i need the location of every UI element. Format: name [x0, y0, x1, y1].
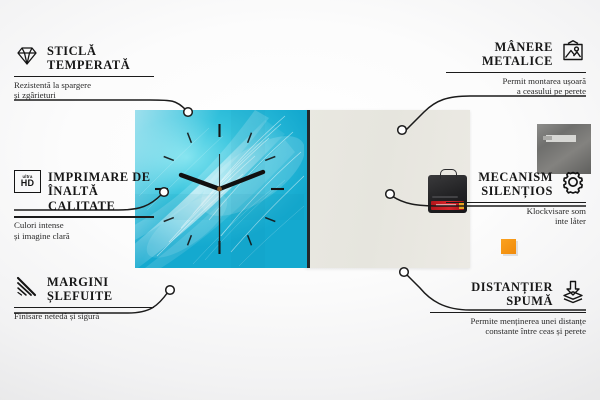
feature-title: MARGINI ȘLEFUITE — [47, 275, 113, 304]
feature-rule — [446, 202, 586, 203]
callout-dot-silent-mechanism — [386, 190, 395, 199]
feature-rule — [430, 312, 586, 313]
infographic-canvas: STICLĂ TEMPERATĂ Rezistentă la spargere … — [0, 0, 600, 400]
feature-foam-spacer: DISTANȚIER SPUMĂ Permite menținerea unei… — [430, 280, 586, 337]
feature-subtitle: Finisare netedă și sigură — [14, 311, 154, 322]
down-arrow-on-pad-icon — [560, 280, 586, 304]
ultra-hd-badge-icon: ultra HD — [14, 170, 41, 193]
diagonal-lines-icon — [14, 275, 40, 299]
feature-rule — [14, 307, 154, 308]
callout-dot-foam-spacer — [400, 268, 409, 277]
feature-subtitle: Rezistentă la spargere și zgârieturi — [14, 80, 154, 101]
feature-tempered-glass: STICLĂ TEMPERATĂ Rezistentă la spargere … — [14, 44, 154, 101]
gear-icon — [560, 170, 586, 194]
feature-hd-print: ultra HD IMPRIMARE DE ÎNALTĂ CALITATE Cu… — [14, 170, 154, 241]
picture-frame-hanger-icon — [560, 40, 586, 64]
feature-rule — [14, 216, 154, 217]
callout-dot-tempered-glass — [184, 108, 193, 117]
callout-endpoints — [160, 108, 409, 295]
ultra-hd-main-text: HD — [21, 179, 34, 188]
feature-subtitle: Permit montarea ușoară a ceasului pe per… — [446, 76, 586, 97]
feature-rule — [14, 76, 154, 77]
feature-silent-mechanism: MECANISM SILENȚIOS Klockvisare som inte … — [446, 170, 586, 227]
feature-rule — [446, 72, 586, 73]
feature-metal-hangers: MÂNERE METALICE Permit montarea ușoară a… — [446, 40, 586, 97]
callout-dot-hd-print — [160, 188, 169, 197]
callout-dot-metal-hangers — [398, 126, 407, 135]
feature-title: MECANISM SILENȚIOS — [446, 170, 553, 199]
feature-subtitle: Klockvisare som inte låter — [446, 206, 586, 227]
feature-polished-edges: MARGINI ȘLEFUITE Finisare netedă și sigu… — [14, 275, 154, 321]
diamond-icon — [14, 44, 40, 68]
callout-line-tempered-glass — [14, 100, 186, 110]
feature-subtitle: Permite menținerea unei distanțe constan… — [430, 316, 586, 337]
feature-title: MÂNERE METALICE — [446, 40, 553, 69]
feature-title: IMPRIMARE DE ÎNALTĂ CALITATE — [48, 170, 154, 213]
feature-subtitle: Culori intense și imagine clară — [14, 220, 154, 241]
feature-title: DISTANȚIER SPUMĂ — [430, 280, 553, 309]
callout-line-metal-hangers — [404, 96, 586, 132]
feature-title: STICLĂ TEMPERATĂ — [47, 44, 130, 73]
callout-dot-polished-edges — [166, 286, 175, 295]
